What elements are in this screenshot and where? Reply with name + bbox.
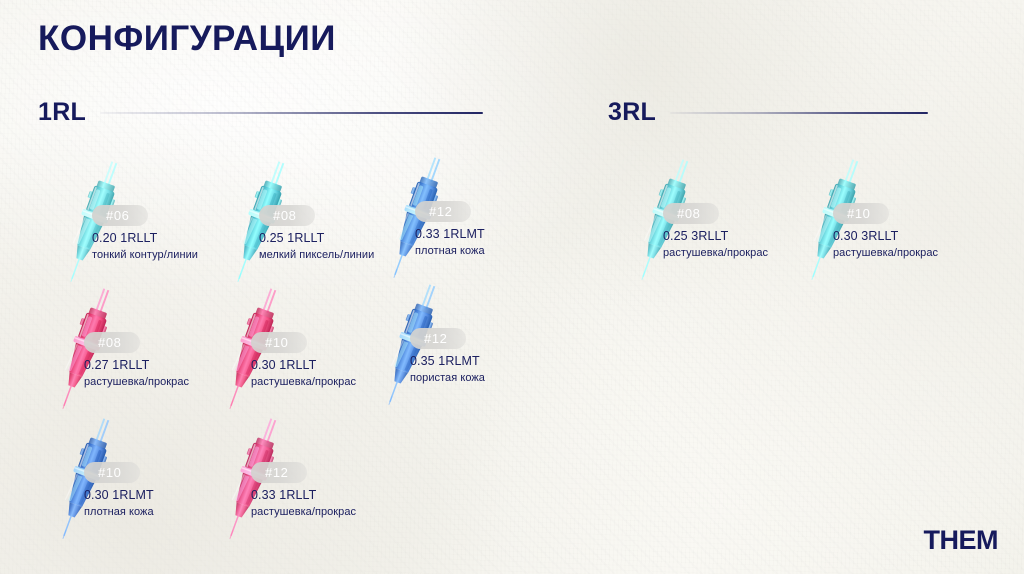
cartridge-spec: 0.30 3RLLT xyxy=(833,229,898,243)
cartridge-description: тонкий контур/линии xyxy=(92,249,198,261)
slide-canvas: КОНФИГУРАЦИИ 1RL 3RL xyxy=(0,0,1024,574)
cartridge-spec: 0.25 1RLLT xyxy=(259,231,324,245)
cartridge-size-badge: #12 xyxy=(415,201,471,222)
section-header-3rl: 3RL xyxy=(608,98,928,127)
cartridge-item[interactable]: #10 0.30 1RLLT растушевка/прокрас xyxy=(205,292,390,407)
cartridge-spec: 0.27 1RLLT xyxy=(84,358,149,372)
cartridge-size-badge: #08 xyxy=(259,205,315,226)
section-header-1rl: 1RL xyxy=(38,98,483,127)
cartridge-spec: 0.30 1RLMT xyxy=(84,488,154,502)
section-title-1rl: 1RL xyxy=(38,98,86,127)
cartridge-size-badge: #10 xyxy=(833,203,889,224)
section-title-3rl: 3RL xyxy=(608,98,656,127)
cartridge-item[interactable]: #10 0.30 1RLMT плотная кожа xyxy=(38,422,223,537)
cartridge-item[interactable]: #12 0.35 1RLMT пористая кожа xyxy=(364,288,549,403)
cartridge-item[interactable]: #12 0.33 1RLLT растушевка/прокрас xyxy=(205,422,390,537)
cartridge-item[interactable]: #08 0.25 3RLLT растушевка/прокрас xyxy=(617,163,802,278)
cartridge-description: плотная кожа xyxy=(84,506,154,518)
cartridge-item[interactable]: #10 0.30 3RLLT растушевка/прокрас xyxy=(787,163,972,278)
section-rule-1rl xyxy=(100,112,483,114)
brand-logo-text: THEM xyxy=(924,525,999,555)
cartridge-description: пористая кожа xyxy=(410,372,485,384)
cartridge-size-badge: #10 xyxy=(84,462,140,483)
cartridge-spec: 0.35 1RLMT xyxy=(410,354,480,368)
cartridge-description: растушевка/прокрас xyxy=(663,247,768,259)
cartridge-spec: 0.25 3RLLT xyxy=(663,229,728,243)
cartridge-spec: 0.20 1RLLT xyxy=(92,231,157,245)
brand-logo: THEM xyxy=(924,527,999,554)
cartridge-spec: 0.33 1RLMT xyxy=(415,227,485,241)
cartridge-description: плотная кожа xyxy=(415,245,485,257)
cartridge-size-badge: #12 xyxy=(410,328,466,349)
cartridge-size-badge: #10 xyxy=(251,332,307,353)
cartridge-size-badge: #08 xyxy=(84,332,140,353)
section-rule-3rl xyxy=(670,112,928,114)
cartridge-size-badge: #08 xyxy=(663,203,719,224)
cartridge-item[interactable]: #12 0.33 1RLMT плотная кожа xyxy=(369,161,554,276)
cartridge-description: растушевка/прокрас xyxy=(251,506,356,518)
cartridge-spec: 0.30 1RLLT xyxy=(251,358,316,372)
cartridge-size-badge: #12 xyxy=(251,462,307,483)
cartridge-spec: 0.33 1RLLT xyxy=(251,488,316,502)
cartridge-description: растушевка/прокрас xyxy=(251,376,356,388)
cartridge-description: растушевка/прокрас xyxy=(833,247,938,259)
cartridge-size-badge: #06 xyxy=(92,205,148,226)
cartridge-item[interactable]: #08 0.27 1RLLT растушевка/прокрас xyxy=(38,292,223,407)
cartridge-description: мелкий пиксель/линии xyxy=(259,249,374,261)
cartridge-description: растушевка/прокрас xyxy=(84,376,189,388)
cartridge-item[interactable]: #06 0.20 1RLLT тонкий контур/линии xyxy=(46,165,231,280)
page-title: КОНФИГУРАЦИИ xyxy=(38,20,336,59)
